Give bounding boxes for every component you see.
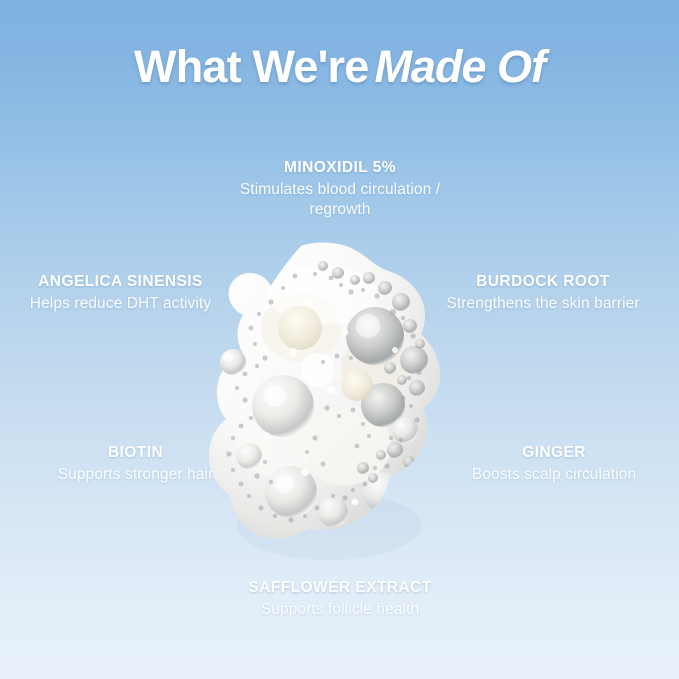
ingredient-burdock-root: BURDOCK ROOT Strengthens the skin barrie… (432, 272, 654, 314)
ingredient-name: MINOXIDIL 5% (230, 158, 450, 178)
page-title: What We'reMade Of (0, 44, 679, 89)
ingredient-description: Boosts scalp circulation (448, 465, 660, 485)
ingredient-minoxidil: MINOXIDIL 5% Stimulates blood circulatio… (230, 158, 450, 219)
ingredient-description: Stimulates blood circulation / regrowth (230, 180, 450, 220)
ingredient-name: BURDOCK ROOT (432, 272, 654, 292)
foam-droplet (220, 349, 246, 375)
ingredient-safflower-extract: SAFFLOWER EXTRACT Supports follicle heal… (195, 578, 485, 620)
ingredient-description: Supports stronger hair (28, 465, 243, 485)
ingredient-name: GINGER (448, 443, 660, 463)
ingredient-description: Strengthens the skin barrier (432, 294, 654, 314)
foam-body (209, 243, 440, 539)
page-title-emphasis: Made Of (374, 41, 545, 92)
ingredient-name: ANGELICA SINENSIS (8, 272, 233, 292)
ingredient-biotin: BIOTIN Supports stronger hair (28, 443, 243, 485)
ingredient-angelica-sinensis: ANGELICA SINENSIS Helps reduce DHT activ… (8, 272, 233, 314)
product-ingredients-poster: What We'reMade Of (0, 0, 679, 679)
ingredient-description: Supports follicle health (195, 600, 485, 620)
ingredient-name: SAFFLOWER EXTRACT (195, 578, 485, 598)
ingredient-description: Helps reduce DHT activity (8, 294, 233, 314)
page-title-regular: What We're (134, 41, 368, 92)
ingredient-ginger: GINGER Boosts scalp circulation (448, 443, 660, 485)
foam-lather-image (205, 240, 455, 560)
page-title-text: What We'reMade Of (134, 44, 545, 89)
ingredient-name: BIOTIN (28, 443, 243, 463)
